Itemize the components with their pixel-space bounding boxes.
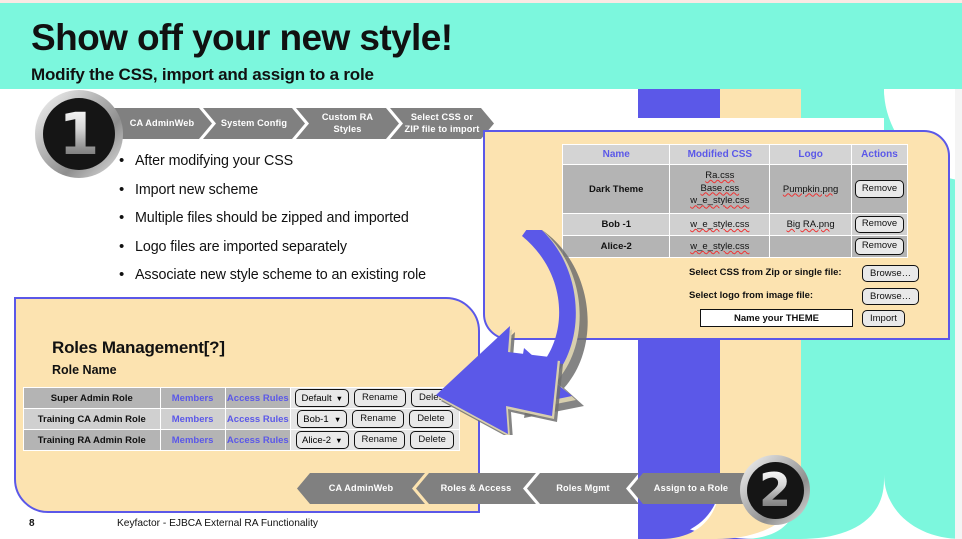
column-header-name: Name	[563, 145, 670, 165]
logo-file-label: Select logo from image file:	[689, 290, 813, 301]
breadcrumb-step-roles-mgmt[interactable]: Roles Mgmt	[527, 473, 639, 504]
slide-header: Show off your new style! Modify the CSS,…	[0, 3, 962, 89]
access-rules-link[interactable]: Access Rules	[225, 388, 290, 409]
column-header-logo: Logo	[770, 145, 852, 165]
theme-select-value: Default	[301, 393, 331, 404]
step-badge-one: 1	[35, 90, 123, 178]
bullet-list: After modifying your CSS Import new sche…	[117, 153, 477, 296]
access-rules-link[interactable]: Access Rules	[225, 430, 290, 451]
cell-logo	[770, 236, 852, 258]
step-badge-one-inner: 1	[43, 98, 115, 170]
cell-logo: Big RA.png	[770, 214, 852, 236]
cell-modified-css: w_e_style.css	[670, 214, 770, 236]
css-file-name: Base.css	[670, 183, 769, 196]
breadcrumb-step-roles-access[interactable]: Roles & Access	[416, 473, 536, 504]
breadcrumb-step-system-config[interactable]: System Config	[203, 108, 305, 139]
browse-logo-button[interactable]: Browse…	[862, 288, 919, 305]
cell-actions: Remove	[852, 214, 908, 236]
table-row: Bob -1 w_e_style.css Big RA.png Remove	[563, 214, 908, 236]
rename-button[interactable]: Rename	[352, 410, 404, 427]
step-badge-one-number: 1	[59, 105, 99, 163]
list-item: Multiple files should be zipped and impo…	[117, 210, 477, 226]
breadcrumb-bottom: CA AdminWeb Roles & Access Roles Mgmt As…	[297, 473, 743, 504]
column-header-actions: Actions	[852, 145, 908, 165]
list-item: Associate new style scheme to an existin…	[117, 267, 477, 283]
css-file-name: w_e_style.css	[690, 241, 749, 252]
logo-file-row: Select logo from image file:	[689, 290, 813, 301]
rename-button[interactable]: Rename	[354, 431, 406, 448]
table-row: Dark Theme Ra.css Base.css w_e_style.css…	[563, 165, 908, 214]
chevron-down-icon: ▼	[334, 415, 341, 424]
step-badge-two-number: 2	[759, 467, 791, 513]
import-button[interactable]: Import	[862, 310, 905, 327]
cell-logo: Pumpkin.png	[770, 165, 852, 214]
theme-select[interactable]: Bob-1 ▼	[297, 410, 347, 428]
chevron-down-icon: ▼	[335, 436, 342, 445]
list-item: Import new scheme	[117, 182, 477, 198]
page-title: Show off your new style!	[31, 17, 452, 59]
remove-button[interactable]: Remove	[855, 238, 904, 255]
cell-theme-name: Dark Theme	[563, 165, 670, 214]
theme-select-value: Alice-2	[302, 435, 331, 446]
step-badge-two-inner: 2	[747, 462, 804, 519]
breadcrumb-step-ca-adminweb[interactable]: CA AdminWeb	[112, 108, 212, 139]
logo-file-name: Big RA.png	[787, 219, 835, 230]
breadcrumb-top: CA AdminWeb System Config Custom RA Styl…	[112, 108, 485, 139]
cell-role-name: Training CA Admin Role	[24, 409, 161, 430]
cell-role-name: Training RA Admin Role	[24, 430, 161, 451]
page-subtitle: Modify the CSS, import and assign to a r…	[31, 65, 374, 85]
remove-button[interactable]: Remove	[855, 216, 904, 233]
slide-canvas: Show off your new style! Modify the CSS,…	[0, 0, 962, 539]
styles-table: Name Modified CSS Logo Actions Dark Them…	[562, 144, 908, 258]
breadcrumb-step-ca-adminweb-2[interactable]: CA AdminWeb	[297, 473, 425, 504]
css-file-name: Ra.css	[670, 170, 769, 183]
roles-management-title: Roles Management[?]	[52, 338, 225, 358]
css-file-label: Select CSS from Zip or single file:	[689, 267, 842, 278]
list-item: Logo files are imported separately	[117, 239, 477, 255]
theme-select[interactable]: Default ▼	[295, 389, 349, 407]
table-row: Super Admin Role Members Access Rules De…	[24, 388, 460, 409]
rename-button[interactable]: Rename	[354, 389, 406, 406]
css-file-name: w_e_style.css	[690, 219, 749, 230]
members-link[interactable]: Members	[160, 409, 225, 430]
cell-actions: Remove	[852, 236, 908, 258]
footer-text: Keyfactor - EJBCA External RA Functional…	[117, 518, 318, 529]
page-number: 8	[29, 518, 35, 529]
cell-actions: Remove	[852, 165, 908, 214]
step-badge-two: 2	[740, 455, 810, 525]
remove-button[interactable]: Remove	[855, 180, 904, 197]
breadcrumb-step-assign-role[interactable]: Assign to a Role	[630, 473, 752, 504]
css-file-row: Select CSS from Zip or single file:	[689, 267, 842, 278]
members-link[interactable]: Members	[160, 388, 225, 409]
logo-file-name: Pumpkin.png	[783, 184, 838, 195]
theme-name-input[interactable]	[700, 309, 853, 327]
cell-modified-css: w_e_style.css	[670, 236, 770, 258]
table-header-row: Name Modified CSS Logo Actions	[563, 145, 908, 165]
theme-select[interactable]: Alice-2 ▼	[296, 431, 348, 449]
theme-select-value: Bob-1	[303, 414, 328, 425]
browse-css-button[interactable]: Browse…	[862, 265, 919, 282]
table-row: Training CA Admin Role Members Access Ru…	[24, 409, 460, 430]
chevron-down-icon: ▼	[336, 394, 343, 403]
css-file-name: w_e_style.css	[670, 195, 769, 208]
list-item: After modifying your CSS	[117, 153, 477, 169]
cell-modified-css: Ra.css Base.css w_e_style.css	[670, 165, 770, 214]
cell-role-name: Super Admin Role	[24, 388, 161, 409]
role-name-label: Role Name	[52, 363, 117, 377]
breadcrumb-step-custom-ra-styles[interactable]: Custom RA Styles	[296, 108, 399, 139]
breadcrumb-step-select-css[interactable]: Select CSS or ZIP file to import	[390, 108, 494, 139]
curved-arrow-icon	[430, 230, 610, 435]
table-row: Alice-2 w_e_style.css Remove	[563, 236, 908, 258]
access-rules-link[interactable]: Access Rules	[225, 409, 290, 430]
roles-table: Super Admin Role Members Access Rules De…	[23, 387, 460, 451]
members-link[interactable]: Members	[160, 430, 225, 451]
column-header-modified-css: Modified CSS	[670, 145, 770, 165]
table-row: Training RA Admin Role Members Access Ru…	[24, 430, 460, 451]
